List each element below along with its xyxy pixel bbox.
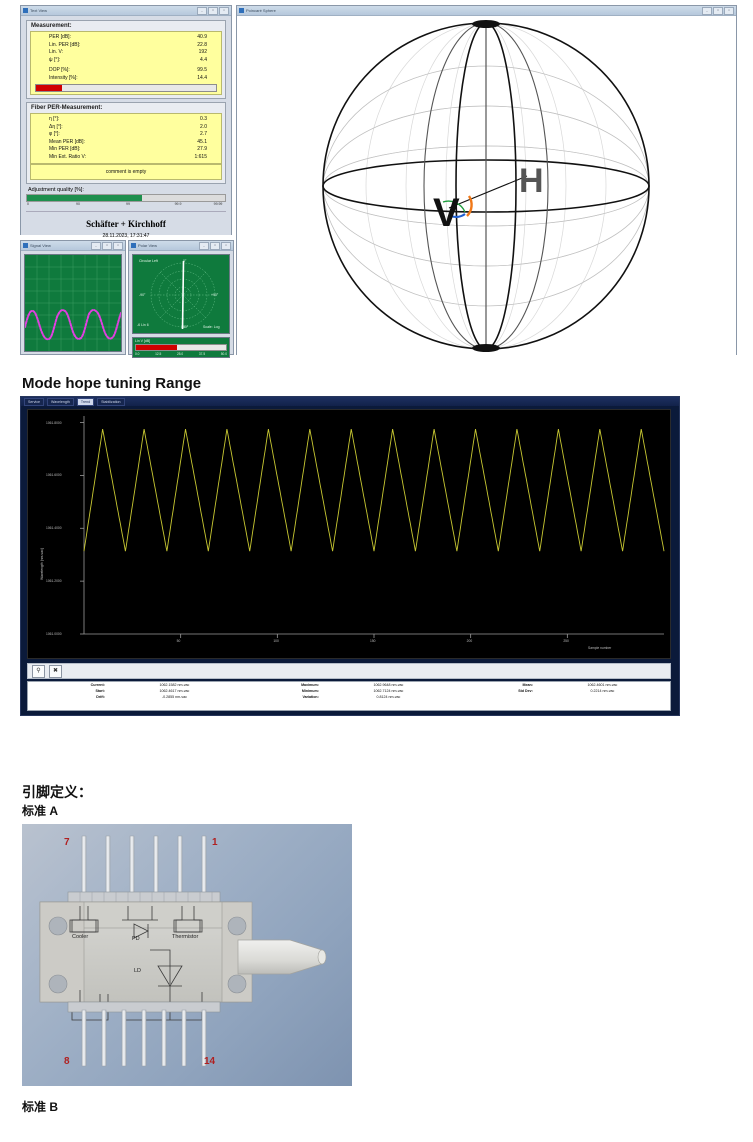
- window-controls[interactable]: _ □ ×: [91, 242, 123, 250]
- row-key: Mean PER [dB]:: [35, 139, 85, 147]
- measurement-row: Intensity [%]: 14.4: [35, 75, 217, 83]
- bar-tick: 0.0: [135, 352, 139, 356]
- adjustment-quality-label: Adjustment quality [%]:: [28, 187, 226, 193]
- statistics-panel: Current: 1062.1582 nm-vac Maximum: 1062.…: [27, 681, 671, 711]
- zoom-icon[interactable]: ⚲: [32, 665, 45, 678]
- y-tick-label: 1061.4000: [46, 526, 62, 530]
- timestamp: 28.11.2023, 17:31:47: [26, 233, 226, 239]
- polar-view-titlebar[interactable]: Polar View _ □ ×: [129, 241, 233, 251]
- y-tick-label: 1061.6000: [46, 473, 62, 477]
- fiber-row: Δη [°]: 2.0: [35, 124, 217, 132]
- signal-waveform: [25, 255, 122, 352]
- row-key: Min Ext. Ratio V:: [35, 154, 86, 162]
- fiber-row: η [°]: 0.3: [35, 116, 217, 124]
- scale-tick: 99.9: [175, 202, 182, 206]
- poincare-sphere-graphic: H V: [237, 16, 736, 356]
- x-tick-label: 150: [370, 639, 376, 643]
- y-axis-label: Wavelength [nm-vac]: [40, 548, 44, 580]
- laser-diode-package-diagram: [22, 824, 352, 1086]
- poincare-body: H V: [237, 16, 736, 355]
- stat-value: [535, 694, 670, 700]
- polar-plot: Circular Left 0° -90° +90° 180° Scale: L…: [132, 254, 230, 334]
- maximize-button[interactable]: □: [210, 242, 220, 250]
- row-value: 1:615: [194, 154, 217, 162]
- x-tick-label: 100: [273, 639, 279, 643]
- window-controls[interactable]: _ □ ×: [702, 7, 734, 15]
- component-label-pd: PD: [132, 936, 140, 942]
- window-title: Signal View: [30, 243, 91, 248]
- row-value: 0.3: [200, 116, 217, 124]
- polar-top-label: 0°: [183, 259, 186, 263]
- polar-bar-scale: 0.0 12.5 25.0 37.5 50.0: [135, 352, 227, 356]
- adjustment-quality-section: Adjustment quality [%]: 0 90 99 99.9 99.…: [26, 187, 226, 208]
- row-key: DOP [%]:: [35, 67, 70, 75]
- text-view-titlebar[interactable]: Text View _ □ ×: [21, 6, 231, 16]
- comment-box[interactable]: comment is empty: [30, 164, 222, 180]
- row-value: 27.9: [197, 146, 217, 154]
- fiber-per-values: η [°]: 0.3 Δη [°]: 2.0 φ [°]: 2.7 Mean P…: [30, 113, 222, 164]
- minimize-button[interactable]: _: [197, 7, 207, 15]
- text-view-window[interactable]: Text View _ □ × Measurement: PER [dB]: 4…: [20, 5, 232, 235]
- y-tick-label: 1061.0000: [46, 632, 62, 636]
- stat-label: Variation:: [242, 694, 321, 700]
- row-key: Lin. PER [dB]:: [35, 42, 80, 50]
- window-controls[interactable]: _ □ ×: [199, 242, 231, 250]
- brand-footer: Schäfter + Kirchhoff 28.11.2023, 17:31:4…: [26, 211, 226, 239]
- row-value: 192: [199, 49, 217, 57]
- row-value: 22.8: [197, 42, 217, 50]
- maximize-button[interactable]: □: [208, 7, 218, 15]
- polar-mode-label: Circular Left: [139, 259, 158, 263]
- row-value: 2.7: [200, 131, 217, 139]
- window-controls[interactable]: _ □ ×: [197, 7, 229, 15]
- statistics-table: Current: 1062.1582 nm-vac Maximum: 1062.…: [28, 682, 670, 700]
- row-key: η [°]:: [35, 116, 59, 124]
- scale-tick: 99: [126, 202, 130, 206]
- measurement-row: Lin. PER [dB]: 22.8: [35, 42, 217, 50]
- stat-value: -0.2855 nm-vac: [107, 694, 242, 700]
- fiber-row: Min Ext. Ratio V: 1:615: [35, 154, 217, 162]
- fiber-row: Mean PER [dB]: 45.1: [35, 139, 217, 147]
- measurement-group: Measurement: PER [dB]: 40.9 Lin. PER [dB…: [26, 20, 226, 99]
- row-key: ψ [°]:: [35, 57, 60, 65]
- pin-definition-heading: 引脚定义：: [22, 782, 92, 802]
- row-key: Δη [°]:: [35, 124, 63, 132]
- row-value: 40.9: [197, 34, 217, 42]
- component-label-ld: LD: [134, 968, 141, 974]
- row-key: Lin. V:: [35, 49, 63, 57]
- polar-view-window[interactable]: Polar View _ □ × Circular Left 0° -90° +…: [128, 240, 234, 355]
- window-icon: [23, 8, 28, 13]
- minimize-button[interactable]: _: [702, 7, 712, 15]
- text-view-body: Measurement: PER [dB]: 40.9 Lin. PER [dB…: [21, 16, 231, 235]
- standard-a-heading: 标准 A: [22, 802, 58, 819]
- x-tick-label: 50: [177, 639, 181, 643]
- row-key: Min PER [dB]:: [35, 146, 80, 154]
- fiber-row: φ [°]: 2.7: [35, 131, 217, 139]
- pin-number-bottom-left: 8: [64, 1056, 70, 1067]
- row-key: Intensity [%]:: [35, 75, 78, 83]
- close-button[interactable]: ×: [221, 242, 231, 250]
- poincare-sphere-window[interactable]: Poincaré Sphere _ □ ×: [236, 5, 737, 355]
- fiber-row: Min PER [dB]: 27.9: [35, 146, 217, 154]
- measurement-row: ψ [°]: 4.4: [35, 57, 217, 65]
- tab-wavelength[interactable]: Wavelength: [47, 398, 74, 406]
- pin-diagram: 7 1 8 14 Cooler PD Thermistor LD: [22, 824, 352, 1086]
- row-key: PER [dB]:: [35, 34, 71, 42]
- polar-bar-label: Lin V [dB]: [135, 339, 227, 343]
- y-tick-label: 1061.8000: [46, 421, 62, 425]
- chart-toolbar[interactable]: ⚲ ✖: [27, 663, 671, 679]
- measurement-row: PER [dB]: 40.9: [35, 34, 217, 42]
- minimize-button[interactable]: _: [199, 242, 209, 250]
- polar-level-bar: [135, 344, 227, 351]
- row-value: 45.1: [197, 139, 217, 147]
- marker-h-text: H: [519, 162, 544, 200]
- close-button[interactable]: ×: [724, 7, 734, 15]
- marker-v-text: V: [433, 191, 460, 235]
- pin-number-bottom-right: 14: [204, 1056, 215, 1067]
- wavelength-trend-chart: [28, 410, 670, 658]
- reset-icon[interactable]: ✖: [49, 665, 62, 678]
- bar-tick: 37.5: [199, 352, 205, 356]
- tab-trend[interactable]: Trend: [77, 398, 94, 406]
- measurement-values: PER [dB]: 40.9 Lin. PER [dB]: 22.8 Lin. …: [30, 31, 222, 95]
- measurement-row: Lin. V: 192: [35, 49, 217, 57]
- stat-label: [456, 694, 535, 700]
- row-value: 14.4: [197, 75, 217, 83]
- stat-label: Drift:: [28, 694, 107, 700]
- row-value: 99.5: [197, 67, 217, 75]
- bar-tick: 25.0: [177, 352, 183, 356]
- stat-value: 0.8124 nm-vac: [321, 694, 456, 700]
- y-tick-label: 1061.2000: [46, 579, 62, 583]
- mode-hope-heading: Mode hope tuning Range: [22, 375, 201, 392]
- close-button[interactable]: ×: [113, 242, 123, 250]
- row-value: 4.4: [200, 57, 217, 65]
- polar-scale-label: Scale: Log: [203, 325, 220, 329]
- window-title: Text View: [30, 8, 197, 13]
- scale-tick: 90: [76, 202, 80, 206]
- pin-number-top-left: 7: [64, 837, 70, 848]
- component-label-cooler: Cooler: [72, 934, 88, 940]
- row-key: φ [°]:: [35, 131, 60, 139]
- polar-bottom-label: 180°: [181, 325, 188, 329]
- window-icon: [131, 243, 136, 248]
- polar-corner-label: -6 Lin 6: [137, 323, 149, 327]
- bottom-pin-group: [82, 1010, 206, 1066]
- tab-service[interactable]: Service: [24, 398, 44, 406]
- maximize-button[interactable]: □: [713, 7, 723, 15]
- top-pin-group: [82, 836, 206, 894]
- minimize-button[interactable]: _: [91, 242, 101, 250]
- measurement-row: DOP [%]: 99.5: [35, 67, 217, 75]
- adjustment-quality-scale: 0 90 99 99.9 99.99: [26, 202, 226, 208]
- tab-stabilization[interactable]: Stabilization: [97, 398, 124, 406]
- fiber-per-heading: Fiber PER-Measurement:: [31, 105, 222, 111]
- pin-number-top-right: 1: [212, 837, 218, 848]
- signal-plot: [24, 254, 122, 352]
- table-row: Drift: -0.2855 nm-vac Variation: 0.8124 …: [28, 694, 670, 700]
- close-button[interactable]: ×: [219, 7, 229, 15]
- window-title: Poincaré Sphere: [246, 8, 702, 13]
- measurement-heading: Measurement:: [31, 23, 222, 29]
- window-title: Polar View: [138, 243, 199, 248]
- poincare-titlebar[interactable]: Poincaré Sphere _ □ ×: [237, 6, 736, 16]
- bar-tick: 50.0: [221, 352, 227, 356]
- standard-b-heading: 标准 B: [22, 1098, 58, 1115]
- fiber-per-group: Fiber PER-Measurement: η [°]: 0.3 Δη [°]…: [26, 102, 226, 184]
- mode-hope-plot[interactable]: Wavelength [nm-vac] Sample number 1061.0…: [27, 409, 671, 659]
- polar-left-label: -90°: [139, 293, 145, 297]
- polar-bar-section: Lin V [dB] 0.0 12.5 25.0 37.5 50.0: [132, 337, 230, 358]
- component-label-thermistor: Thermistor: [172, 934, 198, 940]
- bar-tick: 12.5: [155, 352, 161, 356]
- signal-view-window[interactable]: Signal View _ □ ×: [20, 240, 126, 355]
- adjustment-quality-bar: [26, 194, 226, 202]
- x-tick-label: 200: [467, 639, 473, 643]
- maximize-button[interactable]: □: [102, 242, 112, 250]
- row-value: 2.0: [200, 124, 217, 132]
- scale-tick: 0: [27, 202, 29, 206]
- polar-right-label: +90°: [211, 293, 218, 297]
- window-icon: [23, 243, 28, 248]
- intensity-bar: [35, 84, 217, 92]
- scale-tick: 99.99: [214, 202, 223, 206]
- mode-hope-window[interactable]: Service Wavelength Trend Stabilization W…: [20, 396, 680, 716]
- mode-hope-tabbar[interactable]: Service Wavelength Trend Stabilization: [21, 397, 679, 406]
- signal-view-titlebar[interactable]: Signal View _ □ ×: [21, 241, 125, 251]
- brand-name: Schäfter + Kirchhoff: [86, 219, 166, 229]
- window-icon: [239, 8, 244, 13]
- x-tick-label: 250: [563, 639, 569, 643]
- x-axis-label: Sample number: [588, 646, 611, 650]
